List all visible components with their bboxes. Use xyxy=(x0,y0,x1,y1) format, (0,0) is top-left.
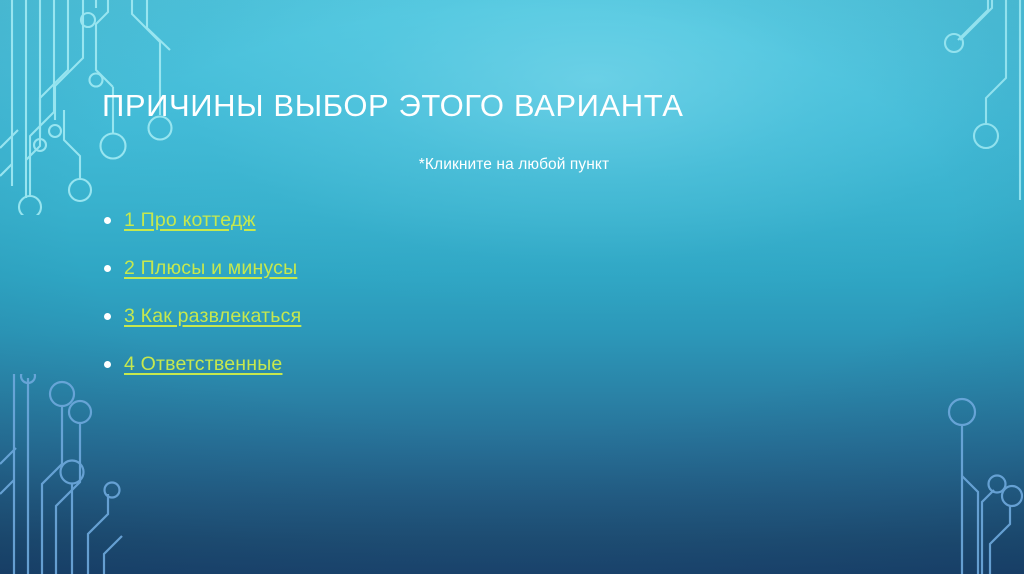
navigation-link-list: 1 Про коттедж 2 Плюсы и минусы 3 Как раз… xyxy=(96,196,301,388)
list-item[interactable]: 2 Плюсы и минусы xyxy=(96,244,301,292)
list-item[interactable]: 4 Ответственные xyxy=(96,340,301,388)
link-ответственные[interactable]: 4 Ответственные xyxy=(124,353,282,376)
slide-content: Причины выбор этого варианта *Кликните н… xyxy=(0,0,1024,574)
list-item[interactable]: 1 Про коттедж xyxy=(96,196,301,244)
page-title: Причины выбор этого варианта xyxy=(102,88,922,124)
bullet-dot-icon xyxy=(104,217,111,224)
bullet-dot-icon xyxy=(104,313,111,320)
presentation-slide: Причины выбор этого варианта *Кликните н… xyxy=(0,0,1024,574)
link-про-коттедж[interactable]: 1 Про коттедж xyxy=(124,209,256,232)
link-как-развлекаться[interactable]: 3 Как развлекаться xyxy=(124,305,301,328)
bullet-dot-icon xyxy=(104,361,111,368)
list-item[interactable]: 3 Как развлекаться xyxy=(96,292,301,340)
bullet-dot-icon xyxy=(104,265,111,272)
link-плюсы-и-минусы[interactable]: 2 Плюсы и минусы xyxy=(124,257,297,280)
slide-instruction-text: *Кликните на любой пункт xyxy=(104,156,924,174)
